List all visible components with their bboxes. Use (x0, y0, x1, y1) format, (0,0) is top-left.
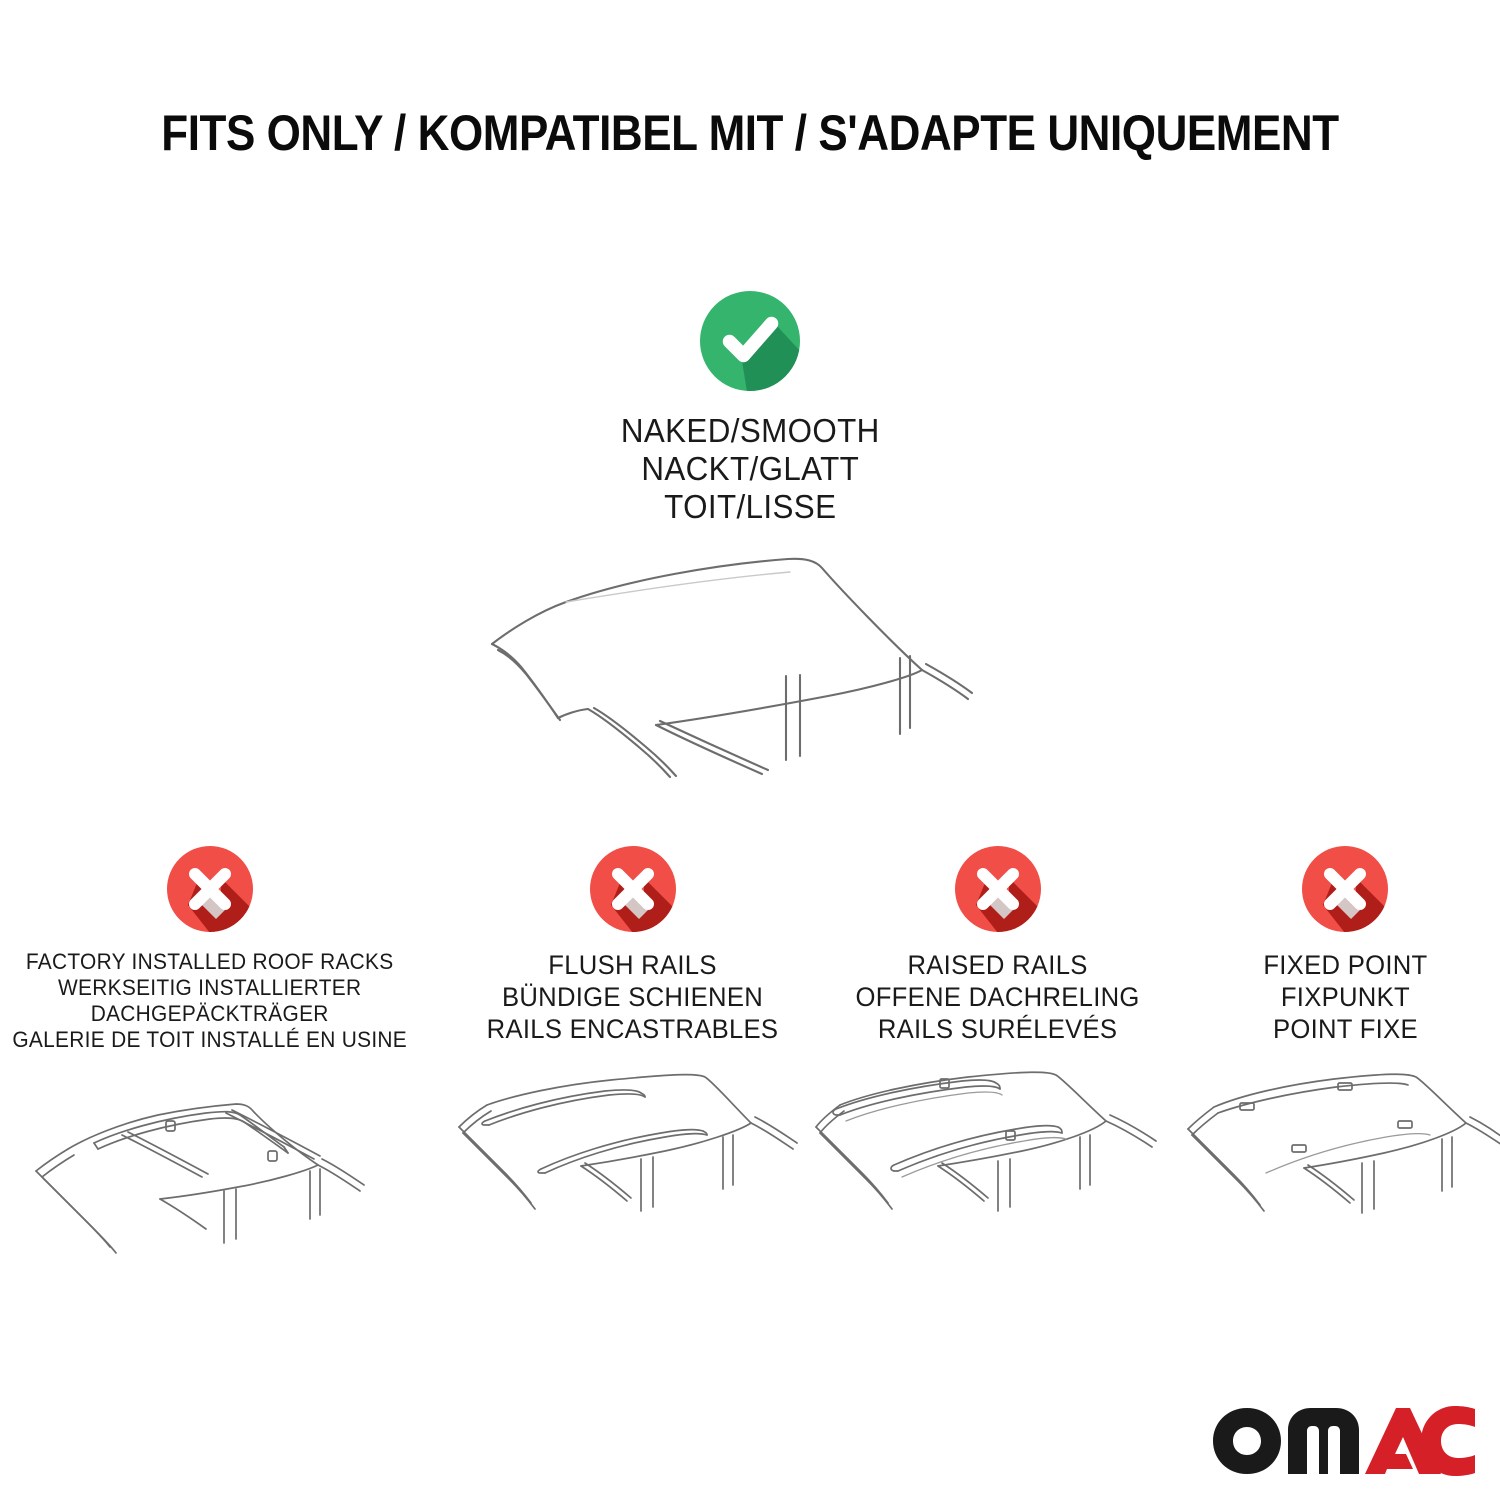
car-roof-fixed-point-illustration (1180, 1065, 1500, 1265)
option-label-de: OFFENE DACHRELING (855, 981, 1139, 1013)
incompatible-option-factory-installed-roof-racks: FACTORY INSTALLED ROOF RACKS WERKSEITIG … (0, 845, 420, 1273)
omac-logo: OMAC (1210, 1404, 1478, 1478)
option-label-de: FIXPUNKT (1263, 981, 1427, 1013)
option-labels: FLUSH RAILS BÜNDIGE SCHIENEN RAILS ENCAS… (487, 949, 779, 1045)
brand-name: OMAC (1478, 1404, 1479, 1405)
option-labels: FACTORY INSTALLED ROOF RACKS WERKSEITIG … (13, 949, 408, 1053)
option-labels: RAISED RAILS OFFENE DACHRELING RAILS SUR… (855, 949, 1139, 1045)
option-label-de-line1: WERKSEITIG INSTALLIERTER (13, 975, 408, 1001)
car-roof-raised-rails-illustration (810, 1065, 1185, 1265)
option-label-fr: POINT FIXE (1263, 1013, 1427, 1045)
incompatible-option-raised-rails: RAISED RAILS OFFENE DACHRELING RAILS SUR… (825, 845, 1170, 1265)
x-circle-icon (1301, 845, 1389, 933)
option-label-fr: RAILS ENCASTRABLES (487, 1013, 779, 1045)
option-label-en: FLUSH RAILS (487, 949, 779, 981)
incompatible-section: FACTORY INSTALLED ROOF RACKS WERKSEITIG … (0, 845, 1500, 1273)
option-label-en: RAISED RAILS (855, 949, 1139, 981)
option-label-de: BÜNDIGE SCHIENEN (487, 981, 779, 1013)
incompatible-option-flush-rails: FLUSH RAILS BÜNDIGE SCHIENEN RAILS ENCAS… (460, 845, 805, 1265)
compatible-label-fr: TOIT/LISSE (621, 488, 880, 526)
car-roof-flush-rails-illustration (445, 1065, 820, 1265)
page-title: FITS ONLY / KOMPATIBEL MIT / S'ADAPTE UN… (90, 104, 1410, 162)
option-label-de-line2: DACHGEPÄCKTRÄGER (13, 1001, 408, 1027)
check-circle-icon (699, 290, 801, 392)
option-labels: FIXED POINT FIXPUNKT POINT FIXE (1263, 949, 1427, 1045)
x-circle-icon (166, 845, 254, 933)
compatible-label-en: NAKED/SMOOTH (621, 412, 880, 450)
option-label-en: FIXED POINT (1263, 949, 1427, 981)
option-label-fr: RAILS SURÉLEVÉS (855, 1013, 1139, 1045)
compatible-labels: NAKED/SMOOTH NACKT/GLATT TOIT/LISSE (621, 412, 880, 526)
option-label-en: FACTORY INSTALLED ROOF RACKS (13, 949, 408, 975)
x-circle-icon (589, 845, 677, 933)
compatible-section: NAKED/SMOOTH NACKT/GLATT TOIT/LISSE (0, 290, 1500, 811)
car-roof-naked-smooth-illustration (470, 546, 1030, 811)
incompatible-option-fixed-point: FIXED POINT FIXPUNKT POINT FIXE (1195, 845, 1495, 1265)
car-roof-factory-rack-illustration (10, 1073, 410, 1273)
option-label-fr: GALERIE DE TOIT INSTALLÉ EN USINE (13, 1027, 408, 1053)
compatible-label-de: NACKT/GLATT (621, 450, 880, 488)
x-circle-icon (954, 845, 1042, 933)
